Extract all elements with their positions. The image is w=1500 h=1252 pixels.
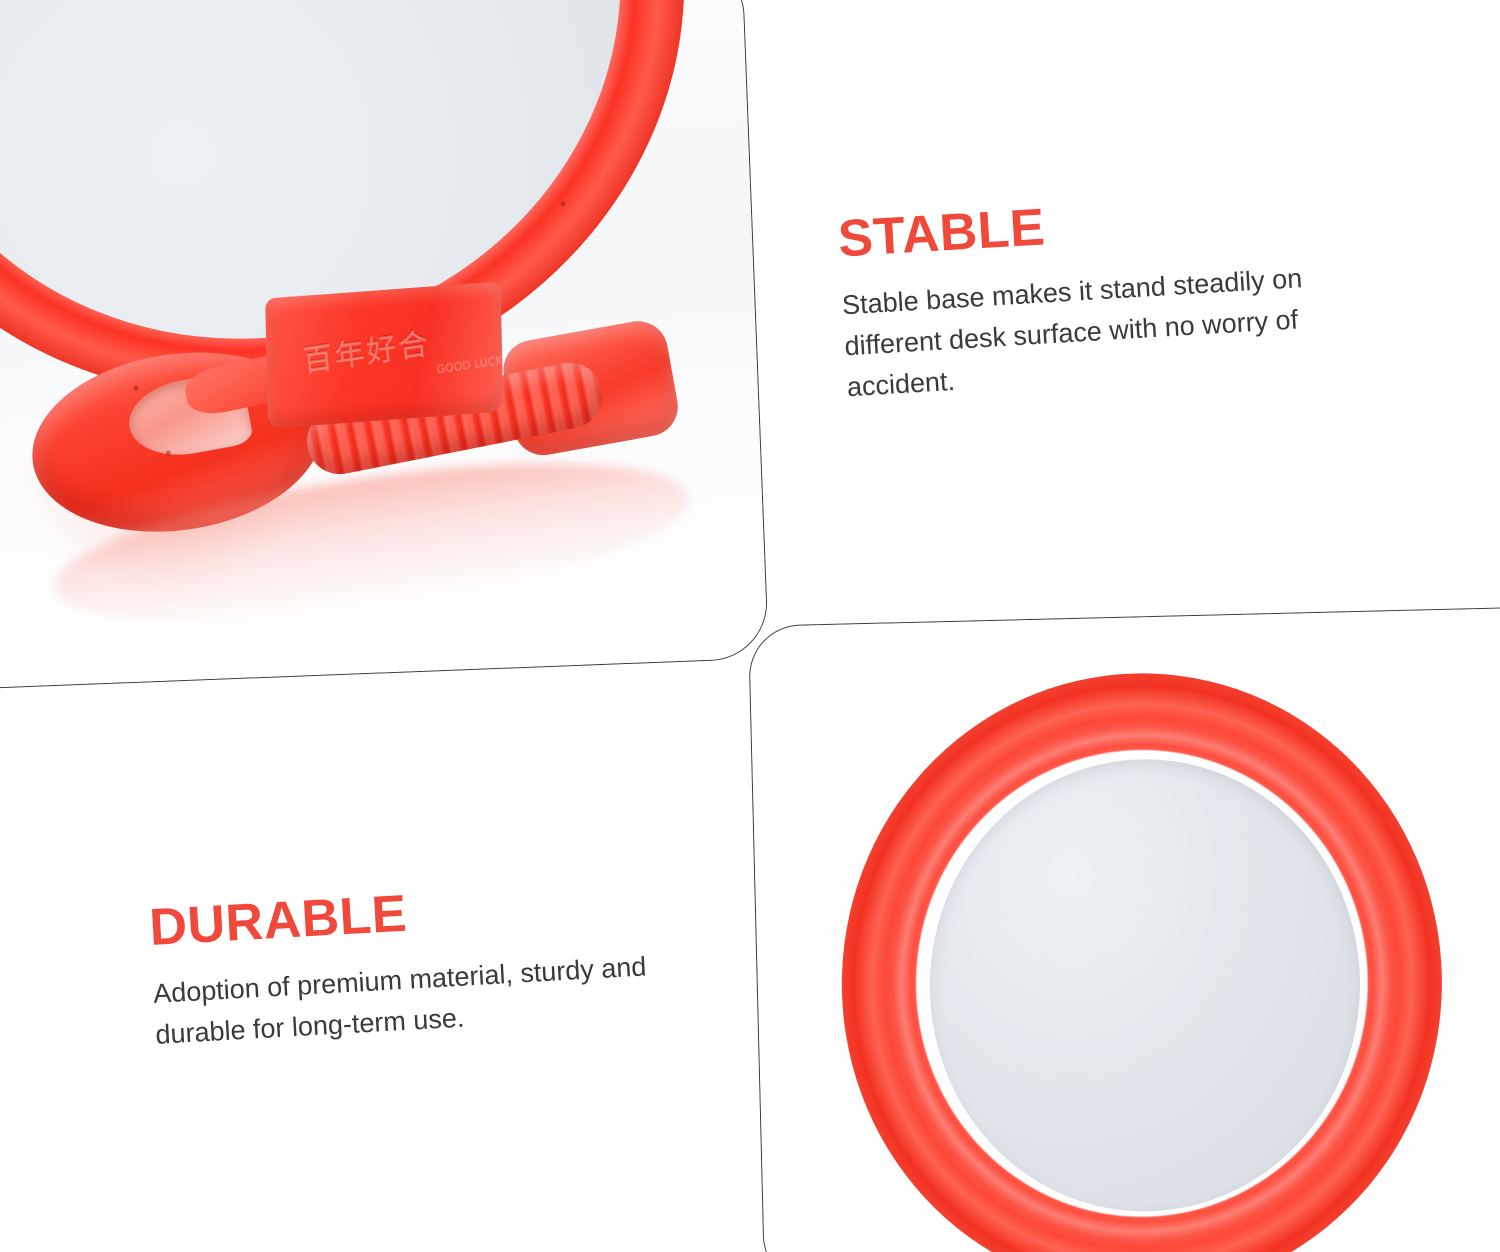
- feature-title-stable: STABLE: [837, 183, 1359, 266]
- feature-description-stable: Stable base makes it stand steadily on d…: [841, 255, 1367, 409]
- embossed-brand-subtext: GOOD LUCK: [436, 353, 503, 375]
- product-photo-stand-base: 百年好合 GOOD LUCK: [0, 0, 769, 689]
- feature-block-stable: STABLE Stable base makes it stand steadi…: [837, 183, 1368, 409]
- feature-block-durable: DURABLE Adoption of premium material, st…: [148, 874, 656, 1056]
- photo-backdrop: [749, 607, 1500, 1252]
- product-photo-round-mirror: [748, 606, 1500, 1252]
- feature-title-durable: DURABLE: [148, 874, 650, 954]
- hinge-neck-plate: 百年好合 GOOD LUCK: [265, 281, 503, 428]
- infographic-canvas: 百年好合 GOOD LUCK STABLE Stable base makes …: [0, 0, 1500, 1252]
- feature-description-durable: Adoption of premium material, sturdy and…: [152, 946, 656, 1056]
- photo-backdrop: 百年好合 GOOD LUCK: [0, 0, 768, 688]
